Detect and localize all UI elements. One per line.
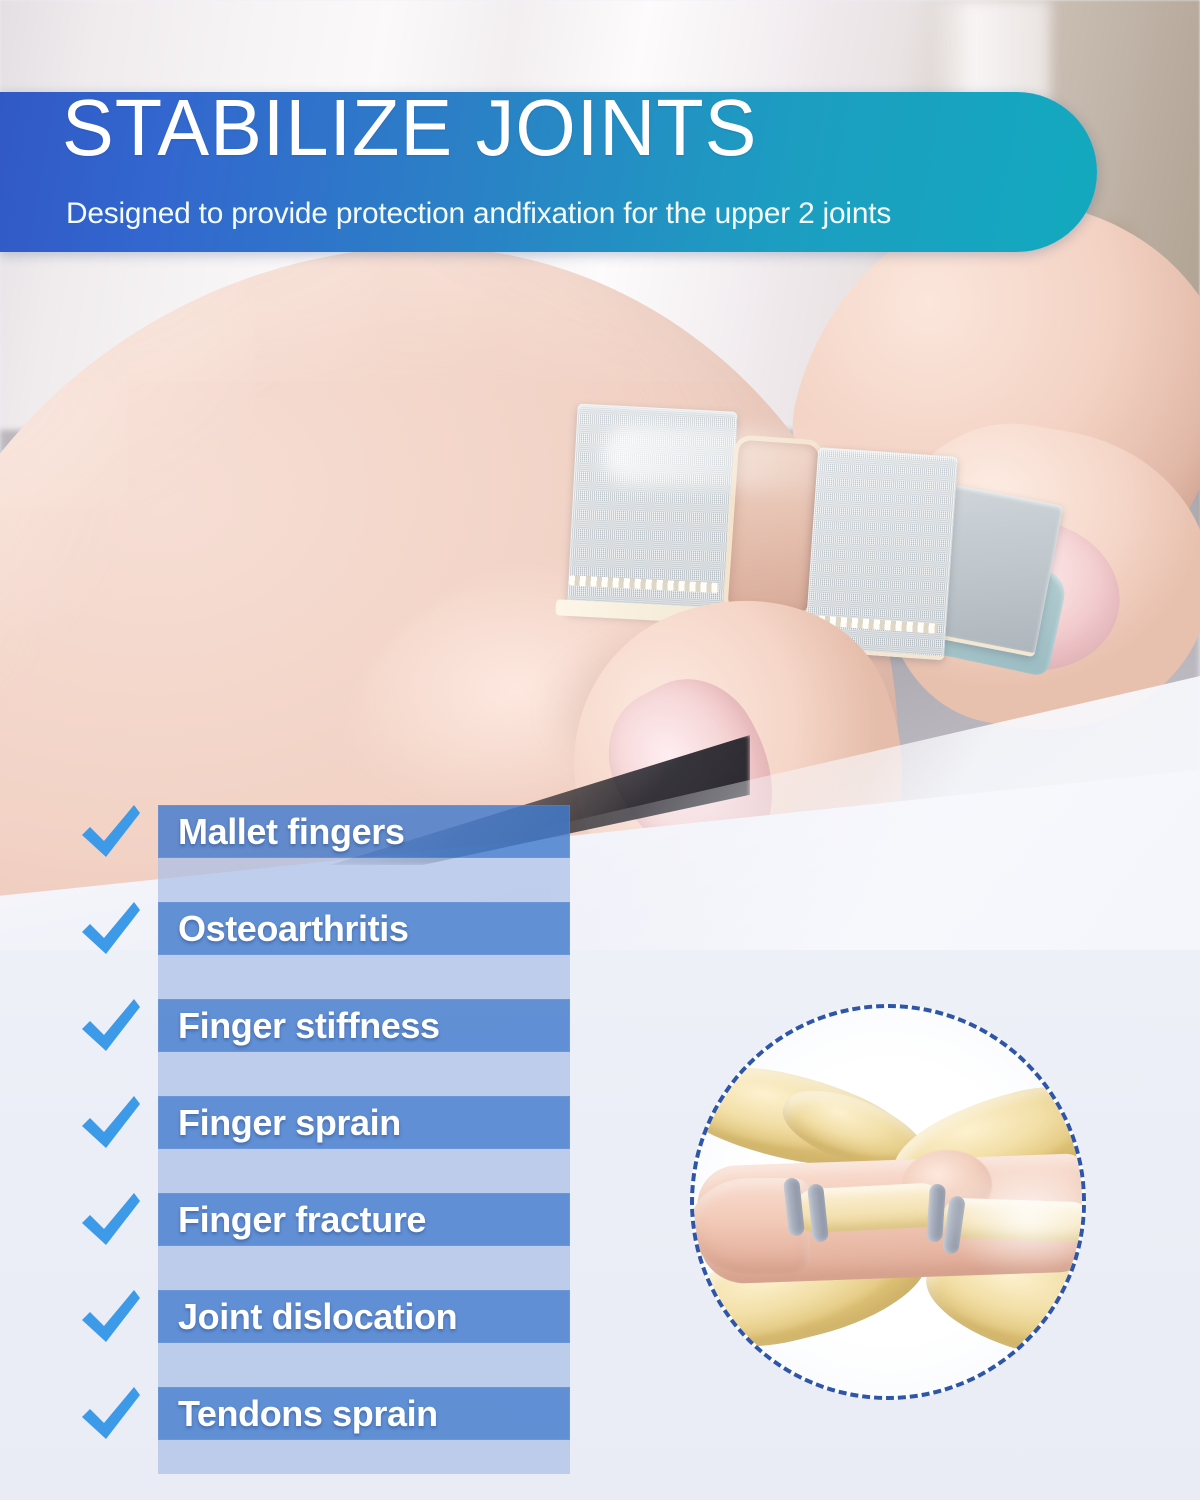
list-item-label: Finger stiffness [178,999,440,1052]
indications-checklist: Mallet fingers Osteoarthritis [0,0,620,1500]
check-icon [78,1385,144,1443]
list-item-bar: Tendons sprain [158,1387,570,1440]
list-item-label: Tendons sprain [178,1387,438,1440]
list-item-label: Finger sprain [178,1096,401,1149]
list-item-bar: Finger sprain [158,1096,570,1149]
list-divider-band [158,858,570,902]
anatomy-drawing [694,1008,1082,1396]
list-divider-band [158,1149,570,1193]
list-item-label: Mallet fingers [178,805,404,858]
check-icon [78,803,144,861]
list-divider-band [158,1440,570,1474]
check-icon [78,1288,144,1346]
check-icon [78,997,144,1055]
list-divider-band [158,1343,570,1387]
check-icon [78,1094,144,1152]
list-item-label: Osteoarthritis [178,902,408,955]
check-icon [78,1191,144,1249]
list-item-label: Joint dislocation [178,1290,457,1343]
splint-gloss-highlight [601,424,933,495]
list-item-bar: Mallet fingers [158,805,570,858]
list-item-bar: Finger stiffness [158,999,570,1052]
list-divider-band [158,1052,570,1096]
finger-joint-anatomy-illustration [690,1004,1086,1400]
illustration-highlight [944,1158,1086,1278]
product-infographic: STABILIZE JOINTS Designed to provide pro… [0,0,1200,1500]
list-item-bar: Joint dislocation [158,1290,570,1343]
list-divider-band [158,955,570,999]
list-item-bar: Osteoarthritis [158,902,570,955]
list-item-label: Finger fracture [178,1193,426,1246]
check-icon [78,900,144,958]
list-divider-band [158,1246,570,1290]
list-item-bar: Finger fracture [158,1193,570,1246]
